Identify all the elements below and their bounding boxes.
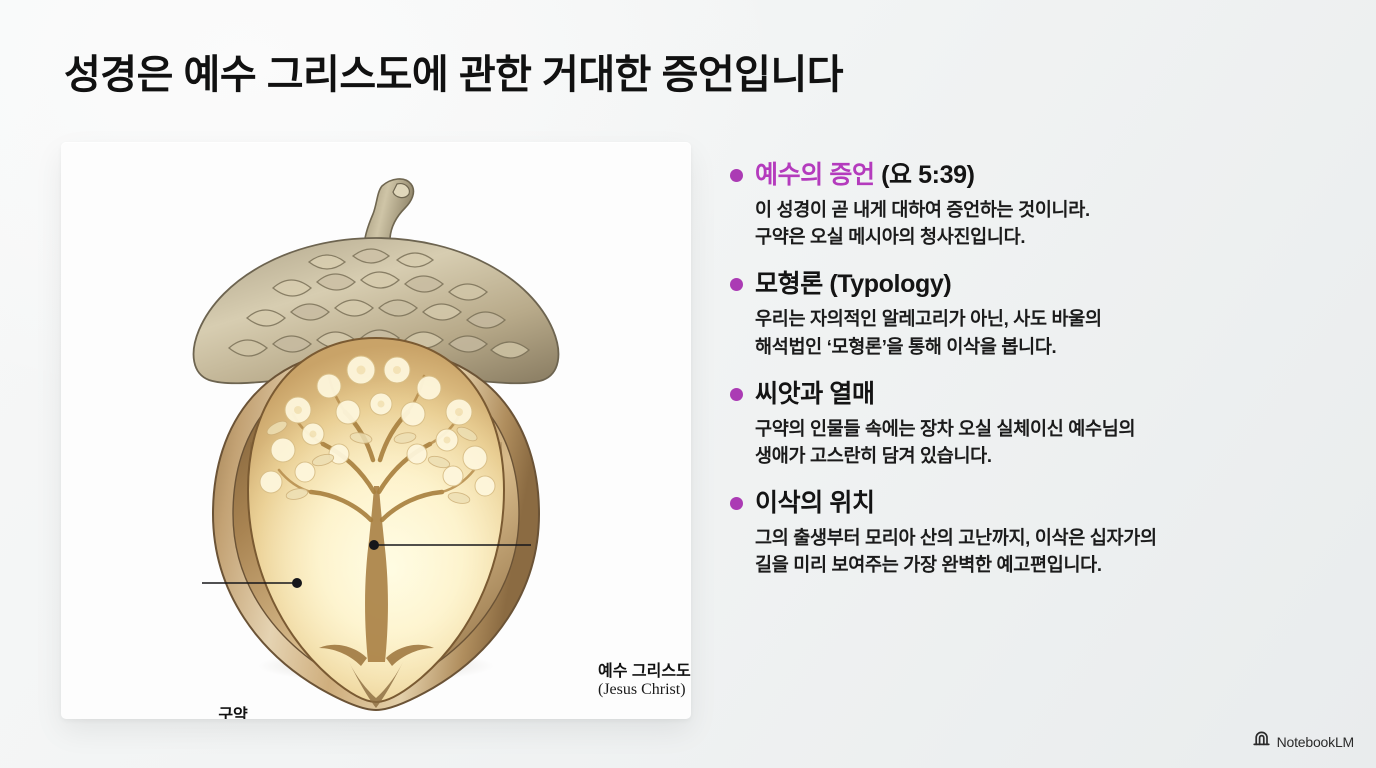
bullet-heading-rest-1: (요 5:39) — [875, 161, 975, 189]
bullet-body-line-1: 그의 출생부터 모리아 산의 고난까지, 이삭은 십자가의 — [755, 524, 1330, 551]
notebooklm-footer: NotebookLM — [1253, 731, 1354, 752]
bullet-body-2: 우리는 자의적인 알레고리가 아닌, 사도 바울의 해석법인 ‘모형론’을 통해… — [755, 305, 1330, 359]
page-title: 성경은 예수 그리스도에 관한 거대한 증언입니다 — [64, 42, 843, 100]
bullet-dot-icon — [730, 497, 743, 510]
annotation-jesus-christ: 예수 그리스도 (Jesus Christ) — [598, 663, 691, 699]
bullet-item-1: 예수의 증언 (요 5:39) 이 성경이 곧 내게 대하여 증언하는 것이니라… — [730, 160, 1330, 250]
bullet-body-line-2: 길을 미리 보여주는 가장 완벽한 예고편입니다. — [755, 551, 1330, 578]
illustration-card: 구약 (Old Testament) 예수 그리스도 (Jesus Christ… — [61, 142, 691, 719]
bullet-heading-text-2: 모형론 (Typology) — [755, 269, 951, 299]
bullet-heading-text-1: 예수의 증언 (요 5:39) — [755, 160, 975, 190]
bullet-heading-rest-2: 모형론 (Typology) — [755, 270, 951, 298]
bullet-list: 예수의 증언 (요 5:39) 이 성경이 곧 내게 대하여 증언하는 것이니라… — [730, 160, 1330, 579]
slide-root: 성경은 예수 그리스도에 관한 거대한 증언입니다 — [0, 0, 1376, 768]
bullet-heading-3: 씨앗과 열매 — [730, 379, 1330, 409]
acorn-illustration — [61, 142, 691, 719]
bullet-body-4: 그의 출생부터 모리아 산의 고난까지, 이삭은 십자가의 길을 미리 보여주는… — [755, 524, 1330, 578]
bullet-body-line-1: 이 성경이 곧 내게 대하여 증언하는 것이니라. — [755, 196, 1330, 223]
bullet-dot-icon — [730, 388, 743, 401]
annotation-old-testament-ko: 구약 — [207, 707, 259, 719]
bullet-heading-rest-3: 씨앗과 열매 — [755, 380, 875, 408]
bullet-body-3: 구약의 인물들 속에는 장차 오실 실체이신 예수님의 생애가 고스란히 담겨 … — [755, 415, 1330, 469]
bullet-body-line-2: 생애가 고스란히 담겨 있습니다. — [755, 442, 1330, 469]
notebooklm-wordmark: NotebookLM — [1277, 734, 1354, 750]
bullet-body-line-1: 우리는 자의적인 알레고리가 아닌, 사도 바울의 — [755, 305, 1330, 332]
bullet-heading-1: 예수의 증언 (요 5:39) — [730, 160, 1330, 190]
bullet-body-line-2: 구약은 오실 메시아의 청사진입니다. — [755, 223, 1330, 250]
bullet-heading-text-3: 씨앗과 열매 — [755, 379, 875, 409]
bullet-body-line-2: 해석법인 ‘모형론’을 통해 이삭을 봅니다. — [755, 333, 1330, 360]
bullet-dot-icon — [730, 278, 743, 291]
bullet-item-2: 모형론 (Typology) 우리는 자의적인 알레고리가 아닌, 사도 바울의… — [730, 269, 1330, 359]
bullet-heading-text-4: 이삭의 위치 — [755, 488, 875, 518]
bullet-heading-rest-4: 이삭의 위치 — [755, 489, 875, 517]
bullet-body-1: 이 성경이 곧 내게 대하여 증언하는 것이니라. 구약은 오실 메시아의 청사… — [755, 196, 1330, 250]
annotation-old-testament: 구약 (Old Testament) — [207, 707, 311, 719]
bullet-body-line-1: 구약의 인물들 속에는 장차 오실 실체이신 예수님의 — [755, 415, 1330, 442]
bullet-heading-accent-1: 예수의 증언 — [755, 161, 875, 189]
bullet-item-4: 이삭의 위치 그의 출생부터 모리아 산의 고난까지, 이삭은 십자가의 길을 … — [730, 488, 1330, 578]
bullet-heading-2: 모형론 (Typology) — [730, 269, 1330, 299]
bullet-item-3: 씨앗과 열매 구약의 인물들 속에는 장차 오실 실체이신 예수님의 생애가 고… — [730, 379, 1330, 469]
bullet-heading-4: 이삭의 위치 — [730, 488, 1330, 518]
annotation-jesus-christ-ko: 예수 그리스도 — [598, 663, 691, 681]
bullet-dot-icon — [730, 169, 743, 182]
notebooklm-logo-icon — [1253, 731, 1271, 752]
annotation-jesus-christ-en: (Jesus Christ) — [598, 681, 691, 699]
